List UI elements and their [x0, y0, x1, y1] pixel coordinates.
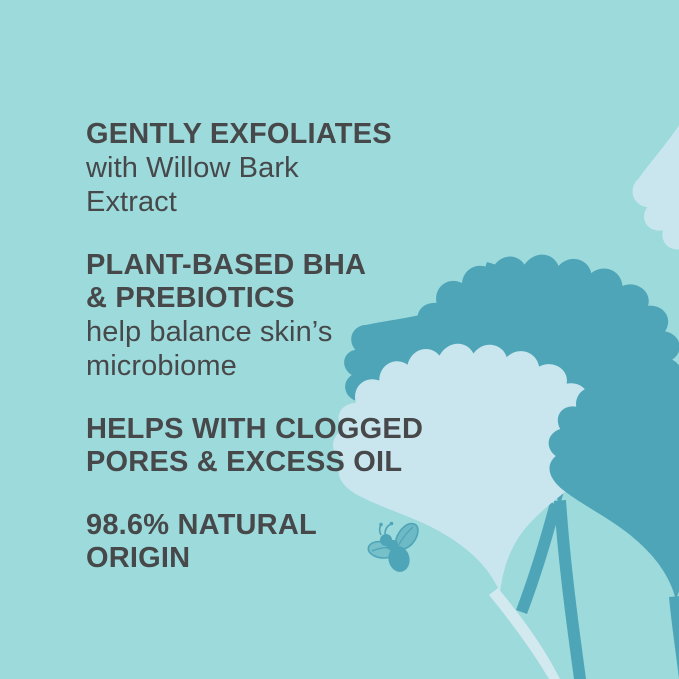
claim-heading: PLANT-BASED BHA & PREBIOTICS	[86, 249, 446, 315]
product-claims-graphic: GENTLY EXFOLIATES with Willow Bark Extra…	[0, 0, 679, 679]
ginkgo-leaf-bottom-right-teal	[538, 361, 679, 679]
claims-text-column: GENTLY EXFOLIATES with Willow Bark Extra…	[86, 118, 446, 575]
ginkgo-leaf-lower-mid-teal	[409, 255, 679, 679]
claim-subtext: help balance skin’s microbiome	[86, 315, 446, 383]
ginkgo-leaf-top-right-light	[591, 0, 679, 304]
claim-subtext: with Willow Bark Extract	[86, 151, 446, 219]
ginkgo-leaf-right-mid-teal	[603, 263, 679, 529]
claim-item: HELPS WITH CLOGGED PORES & EXCESS OIL	[86, 413, 446, 479]
claim-item: GENTLY EXFOLIATES with Willow Bark Extra…	[86, 118, 446, 219]
claim-item: PLANT-BASED BHA & PREBIOTICS help balanc…	[86, 249, 446, 383]
claim-heading: HELPS WITH CLOGGED PORES & EXCESS OIL	[86, 413, 446, 479]
claim-heading: GENTLY EXFOLIATES	[86, 118, 446, 151]
bee-icon	[366, 521, 422, 573]
